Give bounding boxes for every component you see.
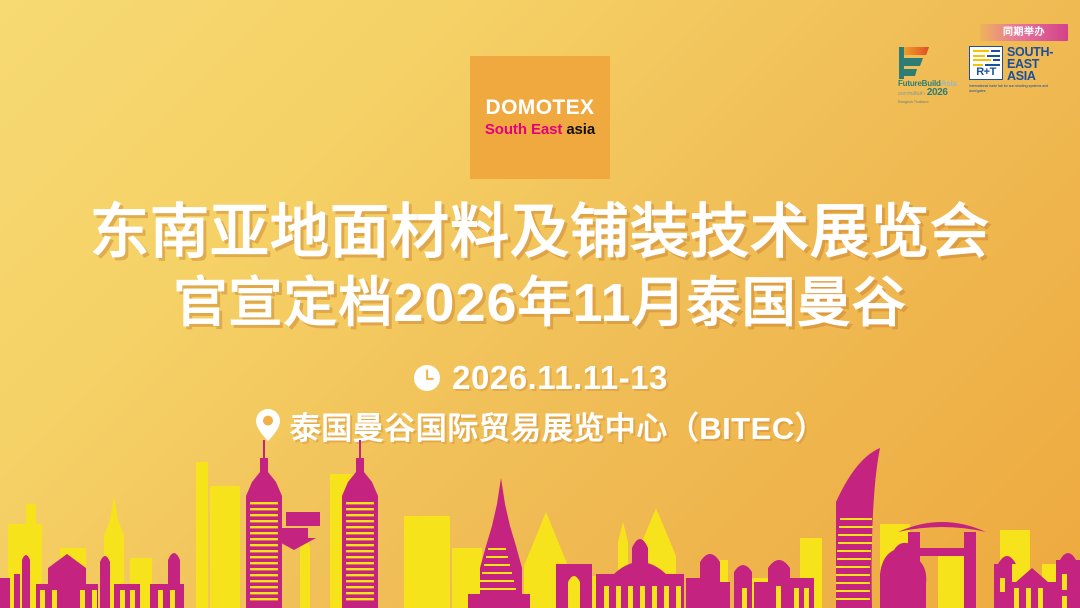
event-date-row: 2026.11.11-13 (0, 358, 1080, 398)
headline-line-2: 官宣定档2026年11月泰国曼谷 (0, 273, 1080, 333)
promo-banner: 同期举办 (0, 0, 1080, 608)
rt-logo-main: R+T SOUTH- EAST ASIA (969, 46, 1066, 82)
futurebuild-text: FutureBuildAsia มหกรรมสินค้า 2026 Bangko… (898, 79, 962, 105)
futurebuild-asia-logo: FutureBuildAsia มหกรรมสินค้า 2026 Bangko… (896, 46, 962, 104)
futurebuild-mark-icon (899, 46, 941, 80)
rt-tagline: International trade fair for sun shading… (969, 84, 1063, 94)
city-skyline-illustration (0, 428, 1080, 608)
domotex-subtitle-asia: asia (566, 121, 595, 138)
concurrent-event-badge: 同期举办 (980, 24, 1068, 41)
futurebuild-year: 2026 (927, 88, 948, 97)
rt-mark-icon: R+T (969, 46, 1003, 80)
concurrent-event-label: 同期举办 (1003, 28, 1045, 38)
rt-wordmark: SOUTH- EAST ASIA (1007, 46, 1053, 82)
domotex-logo: DOMOTEX South East asia (470, 56, 610, 179)
rt-line-3: ASIA (1007, 70, 1053, 82)
partner-logos-block: 同期举办 (896, 24, 1068, 108)
rt-plus-label: R+T (970, 67, 1002, 78)
domotex-subtitle: South East asia (485, 122, 595, 138)
domotex-title: DOMOTEX (486, 97, 595, 119)
partner-logo-row: FutureBuildAsia มหกรรมสินค้า 2026 Bangko… (896, 46, 1068, 108)
clock-icon (412, 363, 442, 393)
event-date-text: 2026.11.11-13 (452, 359, 668, 397)
futurebuild-location: Bangkok Thailand (898, 98, 962, 105)
domotex-subtitle-region: South East (485, 121, 562, 138)
headline-line-1: 东南亚地面材料及铺装技术展览会 (0, 199, 1080, 265)
futurebuild-year-row: มหกรรมสินค้า 2026 (898, 88, 962, 98)
rt-southeast-asia-logo: R+T SOUTH- EAST ASIA International trade… (969, 46, 1066, 104)
futurebuild-subtitle: มหกรรมสินค้า (898, 89, 925, 98)
